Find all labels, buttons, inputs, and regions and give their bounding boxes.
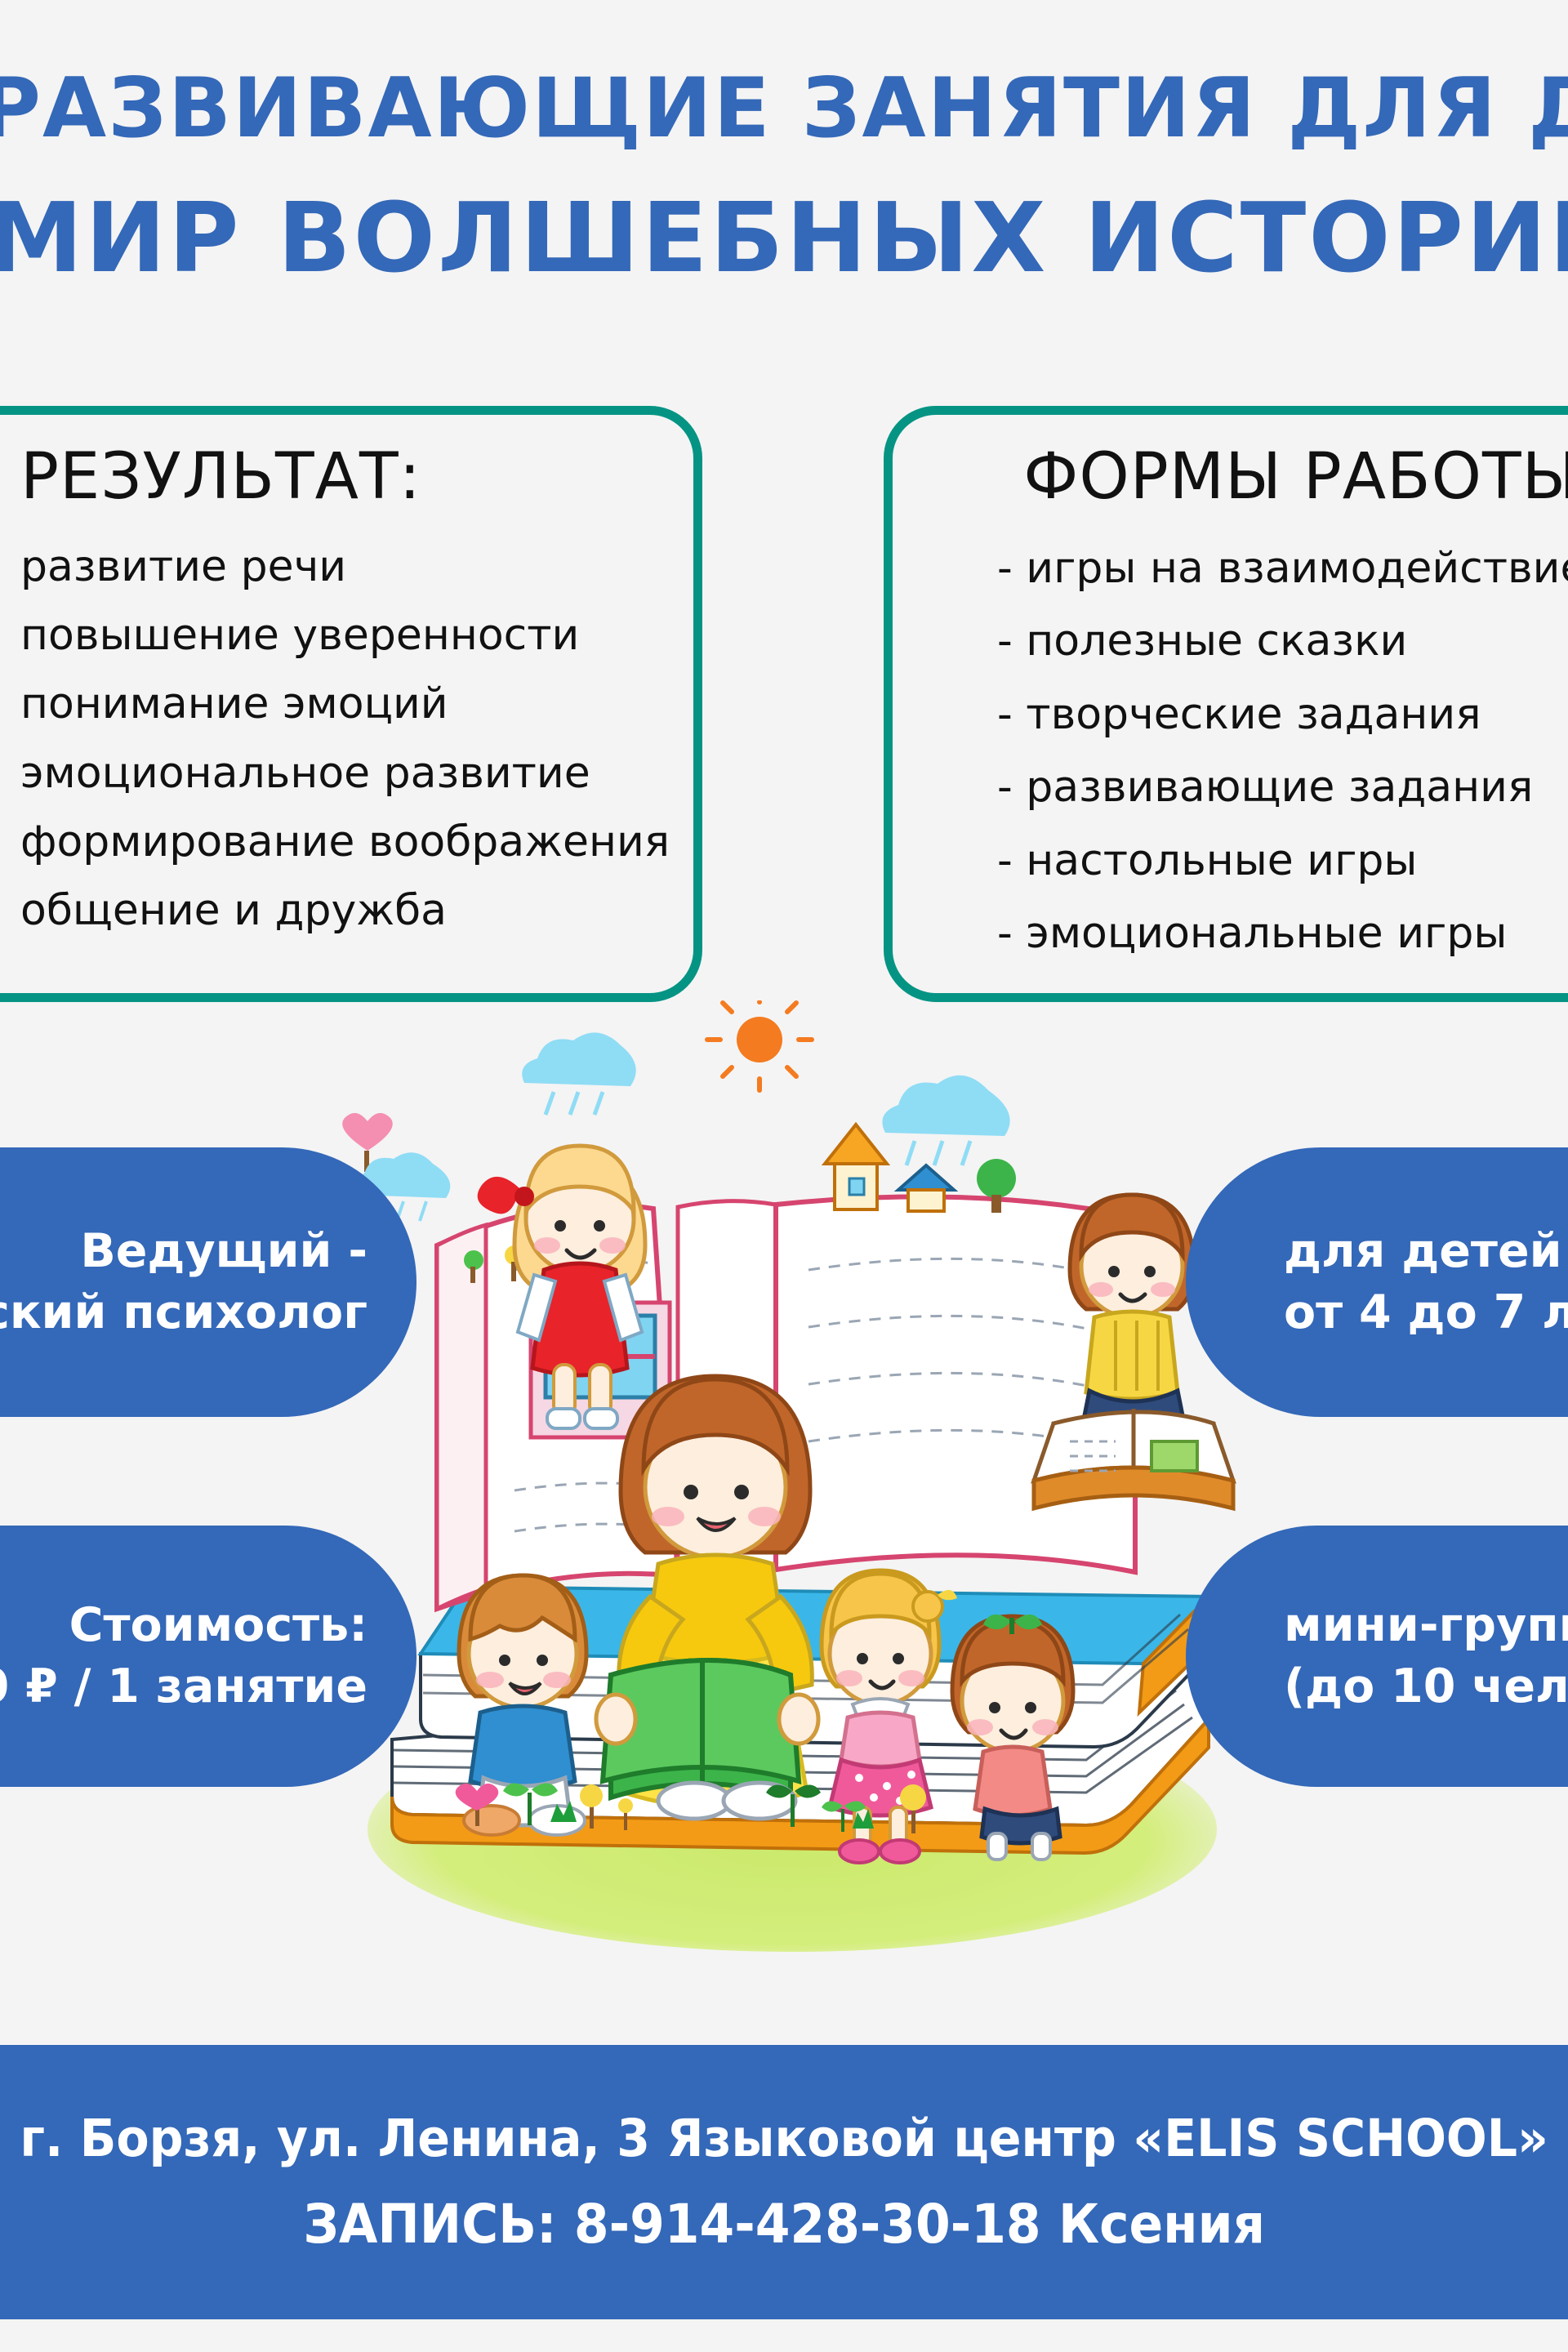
headline-primary: РАЗВИВАЮЩИЕ ЗАНЯТИЯ ДЛЯ ДЕТЕЙ [0,64,1568,153]
badge-group-line2: (до 10 человек) [1284,1656,1568,1717]
children-reading-illustration [269,1000,1307,1980]
list-item: общение и дружба [20,876,657,945]
badge-price-line2: 500 ₽ / 1 занятие [0,1656,367,1717]
result-box-content: РЕЗУЛЬТАТ: развитие речи повышение увере… [0,415,693,993]
badge-age-line1: для детей [1284,1221,1562,1282]
list-item: - творческие задания [997,679,1568,751]
forms-info-box: ФОРМЫ РАБОТЫ: - игры на взаимодействие -… [884,406,1568,1002]
poster-canvas: РАЗВИВАЮЩИЕ ЗАНЯТИЯ ДЛЯ ДЕТЕЙ МИР ВОЛШЕБ… [0,0,1568,2352]
badge-host-line1: Ведущий - [80,1221,367,1282]
badge-age: для детей от 4 до 7 лет [1186,1147,1568,1417]
badge-group-line1: мини-группы [1284,1595,1568,1656]
list-item: эмоциональное развитие [20,739,657,808]
cloud-icon [522,1032,636,1115]
list-item: формирование воображения [20,808,657,876]
result-box-title: РЕЗУЛЬТАТ: [0,444,657,511]
list-item: понимание эмоций [20,670,657,738]
list-item: - полезные сказки [997,605,1568,678]
list-item: развитие речи [20,532,657,601]
result-benefit-list: развитие речи повышение уверенности пони… [0,532,657,945]
house-icon [898,1165,954,1211]
forms-box-title: ФОРМЫ РАБОТЫ: [929,444,1568,511]
list-item: повышение уверенности [20,601,657,670]
sun-icon [707,1002,812,1090]
contact-footer: г. Борзя, ул. Ленина, 3 Языковой центр «… [0,2045,1568,2319]
forms-activity-list: - игры на взаимодействие - полезные сказ… [929,532,1568,971]
badge-price-line1: Стоимость: [69,1595,367,1656]
result-info-box: РЕЗУЛЬТАТ: развитие речи повышение увере… [0,406,702,1002]
small-open-book [1034,1409,1233,1508]
badge-host-line2: детский психолог [0,1282,367,1343]
house-icon [825,1125,887,1209]
poster-headline-block: РАЗВИВАЮЩИЕ ЗАНЯТИЯ ДЛЯ ДЕТЕЙ МИР ВОЛШЕБ… [0,64,1568,292]
footer-address: г. Борзя, ул. Ленина, 3 Языковой центр «… [20,2109,1548,2168]
headline-secondary: МИР ВОЛШЕБНЫХ ИСТОРИЙ [0,185,1568,292]
badge-host: Ведущий - детский психолог [0,1147,416,1417]
list-item: - игры на взаимодействие [997,532,1568,605]
badge-group-size: мини-группы (до 10 человек) [1186,1526,1568,1787]
badge-price: Стоимость: 500 ₽ / 1 занятие [0,1526,416,1787]
list-item: - эмоциональные игры [997,898,1568,970]
forms-box-content: ФОРМЫ РАБОТЫ: - игры на взаимодействие -… [893,415,1568,993]
list-item: - настольные игры [997,825,1568,898]
footer-phone[interactable]: ЗАПИСЬ: 8-914-428-30-18 Ксения [303,2193,1265,2256]
badge-age-line2: от 4 до 7 лет [1284,1282,1568,1343]
list-item: - развивающие задания [997,751,1568,824]
cloud-icon [882,1076,1009,1165]
